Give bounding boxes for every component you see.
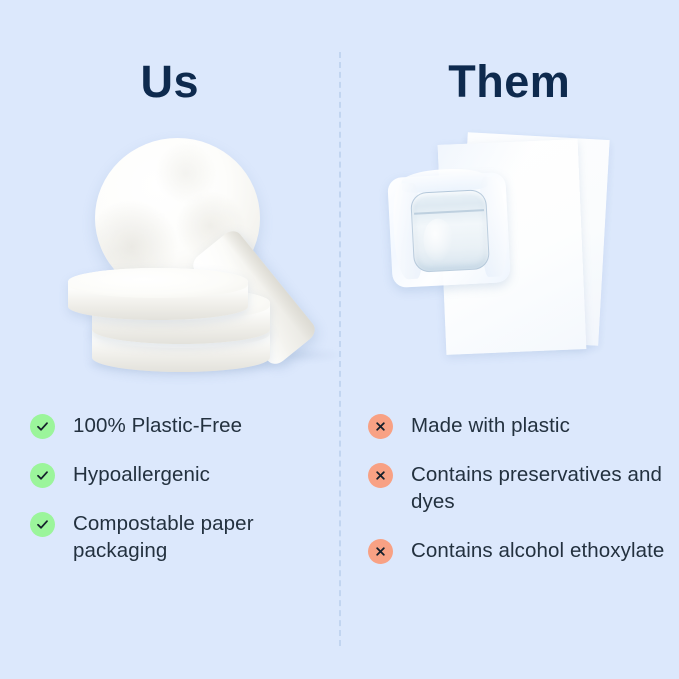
product-image-tablets: [60, 120, 340, 400]
pod-liquid-level: [414, 209, 484, 215]
pod-highlight: [422, 218, 454, 264]
list-item: Hypoallergenic: [30, 461, 330, 488]
check-icon: [30, 463, 55, 488]
tablet-rim: [68, 268, 248, 298]
heading-cell-us: Us: [0, 48, 340, 114]
list-them: Made with plastic Contains preservatives…: [368, 412, 668, 586]
list-item-label: Compostable paper packaging: [73, 510, 328, 564]
check-icon: [30, 414, 55, 439]
list-item-label: Contains preservatives and dyes: [411, 461, 668, 515]
list-item-label: Made with plastic: [411, 412, 570, 439]
list-item-label: Hypoallergenic: [73, 461, 210, 488]
comparison-poster: Us Them: [0, 0, 679, 679]
comparison-lists: 100% Plastic-Free Hypoallergenic Compost…: [0, 412, 679, 642]
check-icon: [30, 512, 55, 537]
x-icon: [368, 539, 393, 564]
plastic-pod: [387, 172, 511, 288]
product-image-wipes: [390, 120, 650, 400]
pod-liquid-window: [410, 189, 490, 273]
list-item: Made with plastic: [368, 412, 668, 439]
heading-cell-them: Them: [340, 48, 679, 114]
product-image-stage: [0, 120, 679, 400]
list-item: Contains preservatives and dyes: [368, 461, 668, 515]
list-item: Compostable paper packaging: [30, 510, 330, 564]
x-icon: [368, 414, 393, 439]
heading-them: Them: [448, 59, 570, 104]
headings-row: Us Them: [0, 48, 679, 114]
list-item-label: 100% Plastic-Free: [73, 412, 242, 439]
list-item-label: Contains alcohol ethoxylate: [411, 537, 664, 564]
x-icon: [368, 463, 393, 488]
list-item: Contains alcohol ethoxylate: [368, 537, 668, 564]
list-us: 100% Plastic-Free Hypoallergenic Compost…: [30, 412, 330, 586]
tablet-disc-flat-top: [68, 268, 248, 320]
heading-us: Us: [140, 59, 199, 104]
list-item: 100% Plastic-Free: [30, 412, 330, 439]
